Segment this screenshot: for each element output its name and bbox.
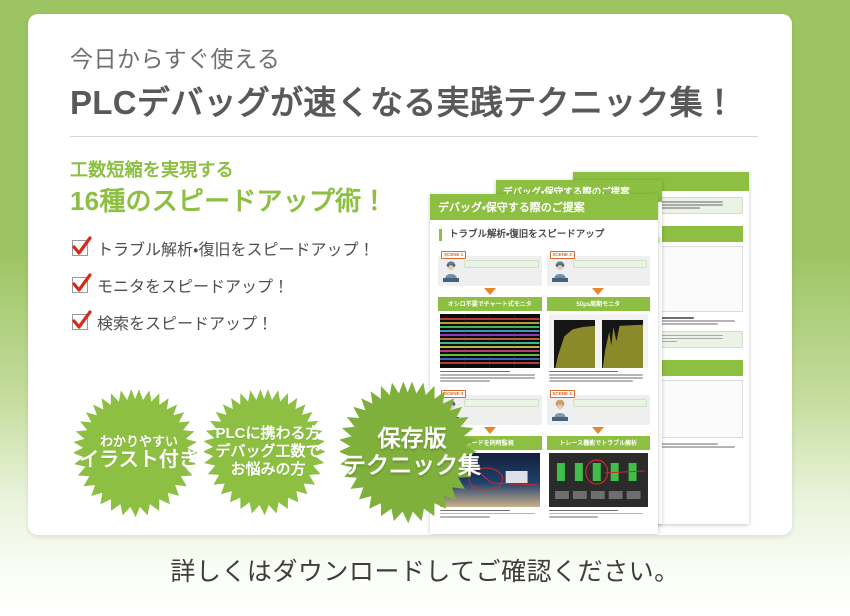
promo-subheading-main: 16種のスピードアップ術！ [70,181,388,218]
download-cta-text: 詳しくはダウンロードしてご確認ください。 [0,552,850,588]
content-panel: 今日からすぐ使える PLCデバッグが速くなる実践テクニック集！ 工数短縮を実現す… [28,14,792,535]
brochure-header: デバッグ・保守する際のご提案 [430,194,658,220]
hero-kicker: 今日からすぐ使える [70,40,280,74]
scene-tag: SCENE 2 [550,251,575,259]
scene-caption [549,510,649,520]
list-item: トラブル解析・復旧をスピードアップ！ [72,236,374,260]
page-title: PLCデバッグが速くなる実践テクニック集！ [70,76,736,124]
list-item: モニタをスピードアップ！ [72,273,374,297]
checkbox-checked-icon [72,314,88,330]
feature-checklist: トラブル解析・復旧をスピードアップ！ モニタをスピードアップ！ 検索をスピードア… [72,236,374,334]
checklist-label: モニタをスピードアップ！ [97,273,289,297]
scene-problem: SCENE 1 [438,256,542,286]
solution-caption: オシロ不要でチャート式モニタ [438,297,542,311]
speech-bubble [464,260,539,268]
scene-card: SCENE 4 [547,395,651,520]
badge-illustration: わかりやすい イラスト付き [74,388,204,518]
scene-tag: SCENE 1 [441,251,466,259]
badge-line: デバッグ工数で [215,443,320,461]
speech-bubble [573,260,648,268]
arrow-down-icon [484,288,496,295]
badge-line: テクニック集 [343,452,481,479]
screenshot-before [554,320,595,368]
worker-illustration-icon [550,260,570,282]
badge-line: お悩みの方 [230,461,305,479]
scene-tag: SCENE 4 [550,390,575,398]
badge-line: 保存版 [378,425,447,452]
scene-caption [549,371,649,384]
brochure-subheading: トラブル解析・復旧をスピードアップ [439,229,658,241]
badge-line: PLCに携わる方 [215,425,320,443]
arrow-down-icon [592,427,604,434]
checklist-label: 検索をスピードアップ！ [97,310,273,334]
solution-caption: 50μs周期モニタ [547,297,651,311]
speech-bubble [573,399,648,407]
promo-subheading-top: 工数短縮を実現する [70,156,234,182]
screenshot-trace-analysis [549,453,649,507]
screenshot-after [602,320,643,368]
scene-problem: SCENE 4 [547,395,651,425]
screenshot-sampling-compare [549,314,649,368]
badge-keepsake: 保存版 テクニック集 [340,380,484,524]
solution-caption: トレース機能でトラブル解析 [547,436,651,450]
screenshot-chart-monitor [440,314,540,368]
list-item: 検索をスピードアップ！ [72,310,374,334]
header-divider [70,136,758,137]
checkbox-checked-icon [72,277,88,293]
promo-banner: 今日からすぐ使える PLCデバッグが速くなる実践テクニック集！ 工数短縮を実現す… [0,0,850,616]
arrow-down-icon [484,427,496,434]
scene-card: SCENE 2 [547,256,651,384]
badge-line: イラスト付き [79,449,199,473]
worker-illustration-icon [441,260,461,282]
badge-audience: PLCに携わる方 デバッグ工数で お悩みの方 [204,388,332,516]
scene-card: SCENE 1 [438,256,542,384]
scene-problem: SCENE 2 [547,256,651,286]
checkbox-checked-icon [72,240,88,256]
arrow-down-icon [592,288,604,295]
badge-line: わかりやすい [100,434,178,449]
worker-illustration-icon [550,399,570,421]
checklist-label: トラブル解析・復旧をスピードアップ！ [97,236,374,260]
